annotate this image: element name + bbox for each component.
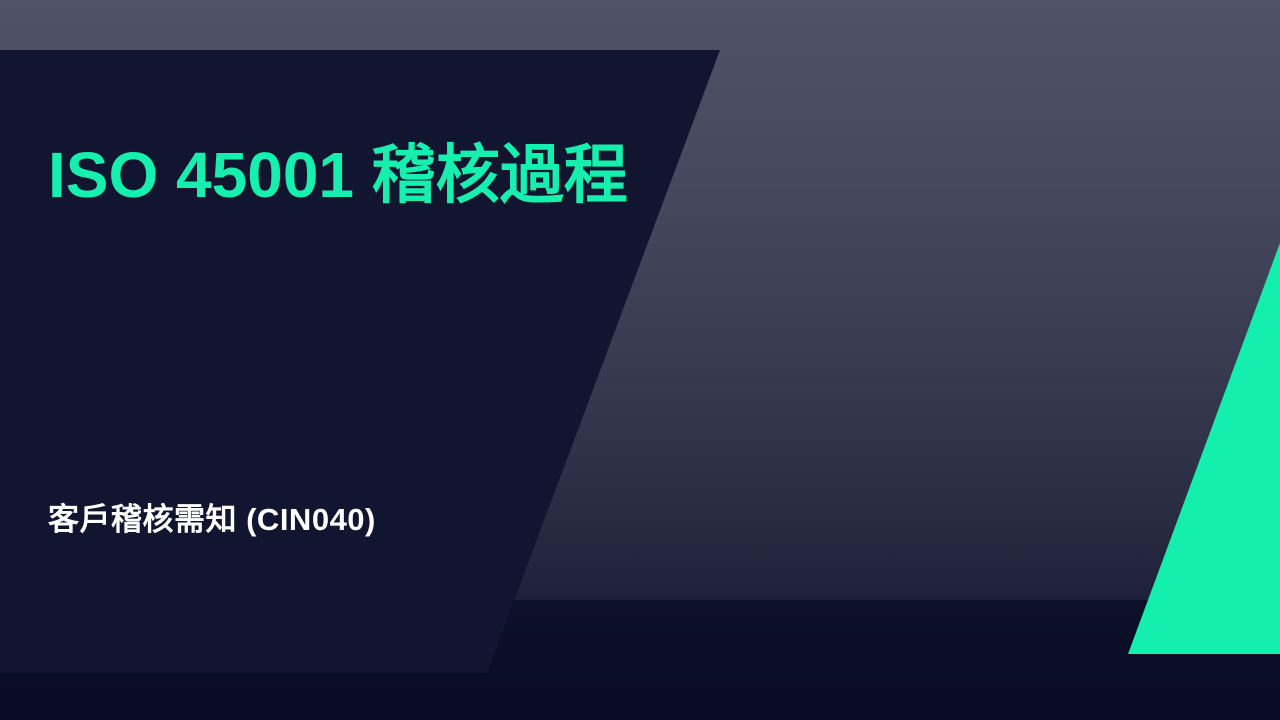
slide-subtitle: 客戶稽核需知 (CIN040) — [48, 500, 376, 540]
slide-title: ISO 45001 稽核過程 — [48, 140, 628, 212]
title-text-block: ISO 45001 稽核過程 客戶稽核需知 (CIN040) — [48, 0, 668, 720]
title-slide: ISO 45001 稽核過程 客戶稽核需知 (CIN040) — [0, 0, 1280, 720]
